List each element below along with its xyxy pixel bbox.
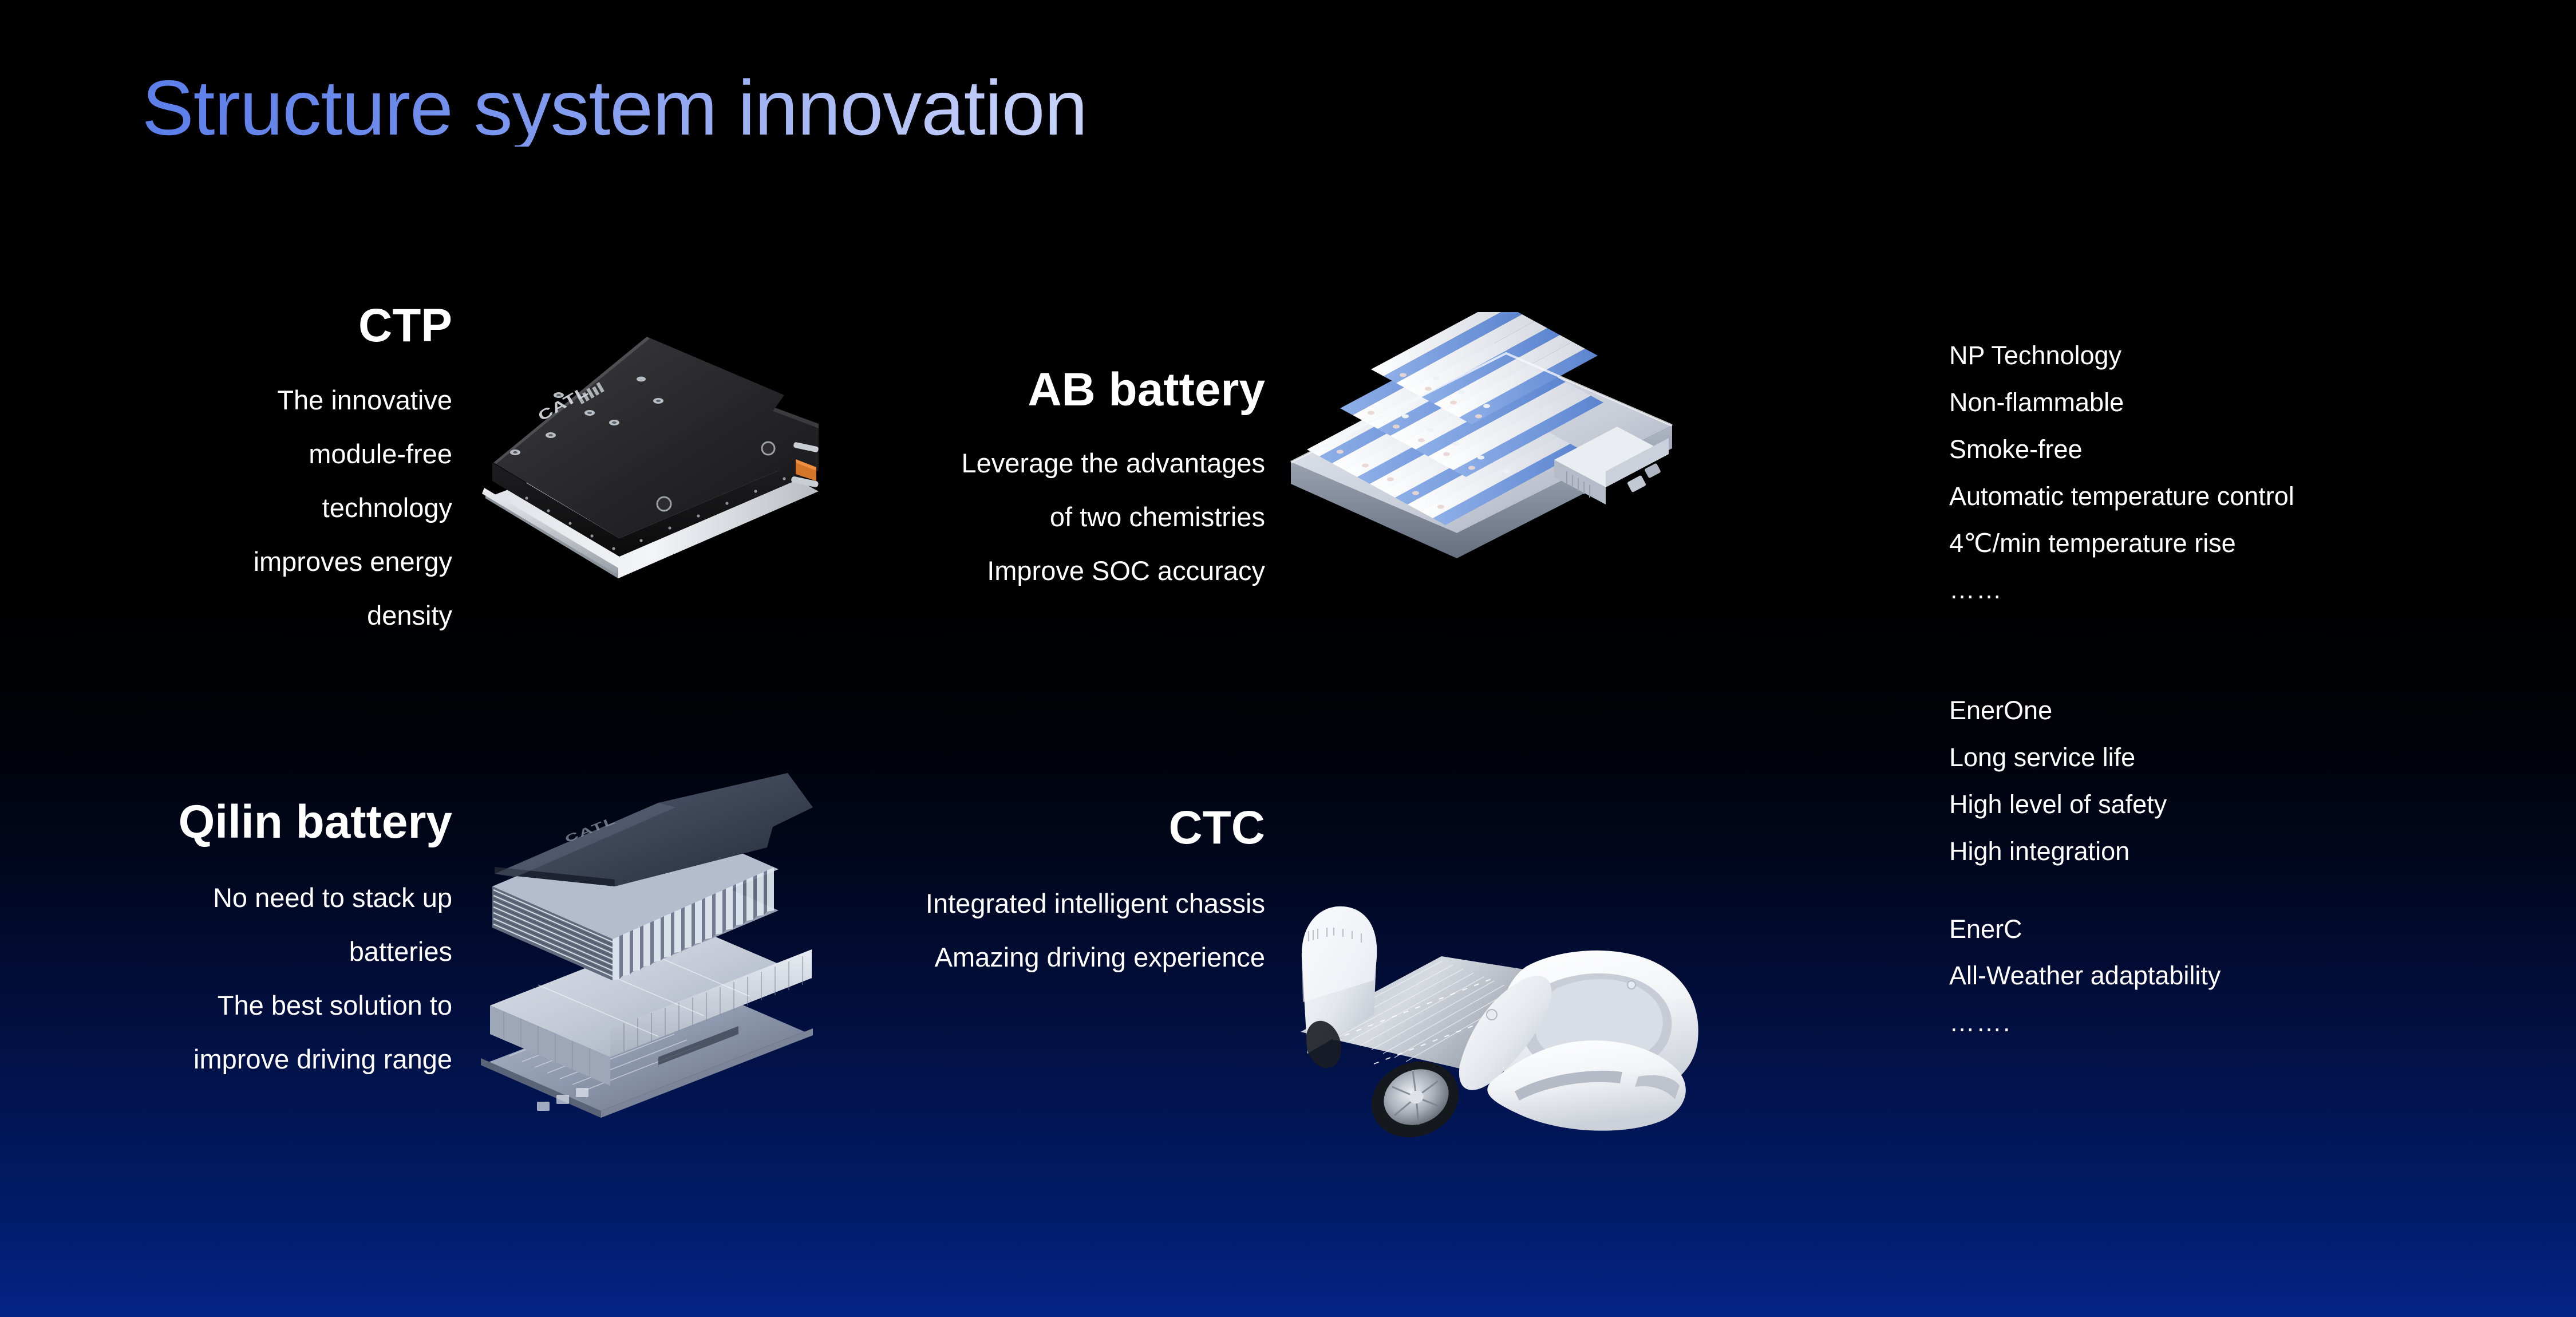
card-ctp-line: improves energy: [80, 535, 452, 589]
card-ab-battery-body: Leverage the advantages of two chemistri…: [710, 436, 1265, 598]
feature-list-ener: EnerOne Long service life High level of …: [1949, 687, 2221, 1046]
card-ctp-line: module-free: [80, 427, 452, 481]
feature-item: Non-flammable: [1949, 379, 2294, 426]
feature-item: High integration: [1949, 828, 2221, 875]
card-ctc-heading: CTC: [710, 805, 1265, 851]
card-ctp-body: The innovative module-free technology im…: [80, 373, 452, 642]
card-ctc: CTC Integrated intelligent chassis Amazi…: [710, 805, 1265, 984]
card-ab-battery-line: of two chemistries: [710, 490, 1265, 544]
card-ctp-line: The innovative: [80, 373, 452, 427]
card-ctc-body: Integrated intelligent chassis Amazing d…: [710, 877, 1265, 984]
feature-list-np: NP Technology Non-flammable Smoke-free A…: [1949, 332, 2294, 613]
feature-item: NP Technology: [1949, 332, 2294, 379]
card-ab-battery-line: Improve SOC accuracy: [710, 544, 1265, 598]
ctc-chassis-image: [1288, 813, 1706, 1139]
card-ctp-line: density: [80, 589, 452, 642]
ab-battery-pack-image: [1285, 312, 1674, 558]
feature-item: Smoke-free: [1949, 426, 2294, 473]
feature-item: Automatic temperature control: [1949, 473, 2294, 520]
card-ab-battery-line: Leverage the advantages: [710, 436, 1265, 490]
card-ab-battery-heading: AB battery: [710, 366, 1265, 413]
page-title: Structure system innovation: [142, 69, 1087, 147]
card-ctp-heading: CTP: [80, 302, 452, 349]
card-qilin-battery-line: improve driving range: [57, 1032, 452, 1086]
feature-item: 4℃/min temperature rise: [1949, 520, 2294, 567]
feature-item-ellipsis: …….: [1949, 999, 2221, 1046]
card-ctp: CTP The innovative module-free technolog…: [80, 302, 452, 642]
card-qilin-battery: Qilin battery No need to stack up batter…: [57, 799, 452, 1086]
card-qilin-battery-line: batteries: [57, 925, 452, 979]
card-ctc-line: Amazing driving experience: [710, 930, 1265, 984]
slide-canvas: Structure system innovation: [0, 0, 2576, 1317]
feature-item-ellipsis: ……: [1949, 566, 2294, 613]
feature-item: EnerOne: [1949, 687, 2221, 734]
feature-item: Long service life: [1949, 734, 2221, 781]
feature-list-spacer: [1949, 875, 2221, 906]
card-ctp-line: technology: [80, 481, 452, 535]
card-qilin-battery-line: The best solution to: [57, 979, 452, 1032]
feature-item: High level of safety: [1949, 781, 2221, 828]
feature-item: EnerC: [1949, 906, 2221, 953]
card-qilin-battery-body: No need to stack up batteries The best s…: [57, 871, 452, 1086]
card-qilin-battery-heading: Qilin battery: [57, 799, 452, 846]
card-ab-battery: AB battery Leverage the advantages of tw…: [710, 366, 1265, 598]
card-qilin-battery-line: No need to stack up: [57, 871, 452, 925]
card-ctc-line: Integrated intelligent chassis: [710, 877, 1265, 930]
feature-item: All-Weather adaptability: [1949, 952, 2221, 999]
